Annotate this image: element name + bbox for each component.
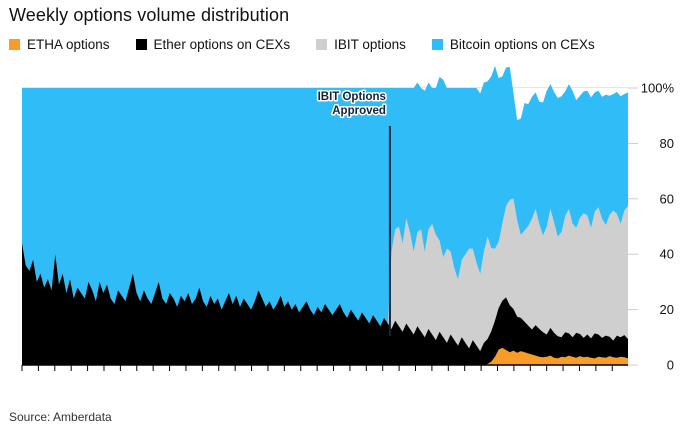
chart-container: Weekly options volume distribution ETHA … [0, 0, 680, 435]
y-tick-label: 60 [660, 191, 674, 206]
legend-label: IBIT options [334, 37, 406, 52]
y-tick-label: 80 [660, 136, 674, 151]
area-series-layer [22, 66, 628, 365]
annotation-label: IBIT Options [318, 91, 386, 103]
y-tick-label: 100% [641, 81, 675, 96]
x-tick-label: 2024 [219, 378, 248, 380]
legend-item-etha-options[interactable]: ETHA options [9, 37, 110, 52]
x-tick-label: 2023 [22, 378, 51, 380]
source-note: Source: Amberdata [9, 410, 112, 424]
stacked-area-chart: IBIT OptionsIBIT OptionsApprovedApproved… [0, 60, 680, 380]
legend-label: ETHA options [27, 37, 110, 52]
x-tick-label: 2025 [416, 378, 445, 380]
legend-swatch-icon [9, 39, 20, 50]
y-tick-label: 40 [660, 247, 674, 262]
plot-area: IBIT OptionsIBIT OptionsApprovedApproved… [0, 60, 680, 380]
legend-item-ether-options-cex[interactable]: Ether options on CEXs [136, 37, 291, 52]
legend-swatch-icon [316, 39, 327, 50]
legend-swatch-icon [136, 39, 147, 50]
legend-item-bitcoin-options-cex[interactable]: Bitcoin options on CEXs [432, 37, 595, 52]
y-tick-label: 0 [667, 358, 674, 373]
page-title: Weekly options volume distribution [9, 4, 289, 26]
x-tick-label: 2026 [612, 378, 641, 380]
legend-label: Bitcoin options on CEXs [450, 37, 595, 52]
legend-swatch-icon [432, 39, 443, 50]
y-tick-label: 20 [660, 302, 674, 317]
chart-legend: ETHA options Ether options on CEXs IBIT … [9, 34, 621, 54]
legend-label: Ether options on CEXs [154, 37, 291, 52]
annotation-label: Approved [332, 105, 386, 117]
legend-item-ibit-options[interactable]: IBIT options [316, 37, 406, 52]
